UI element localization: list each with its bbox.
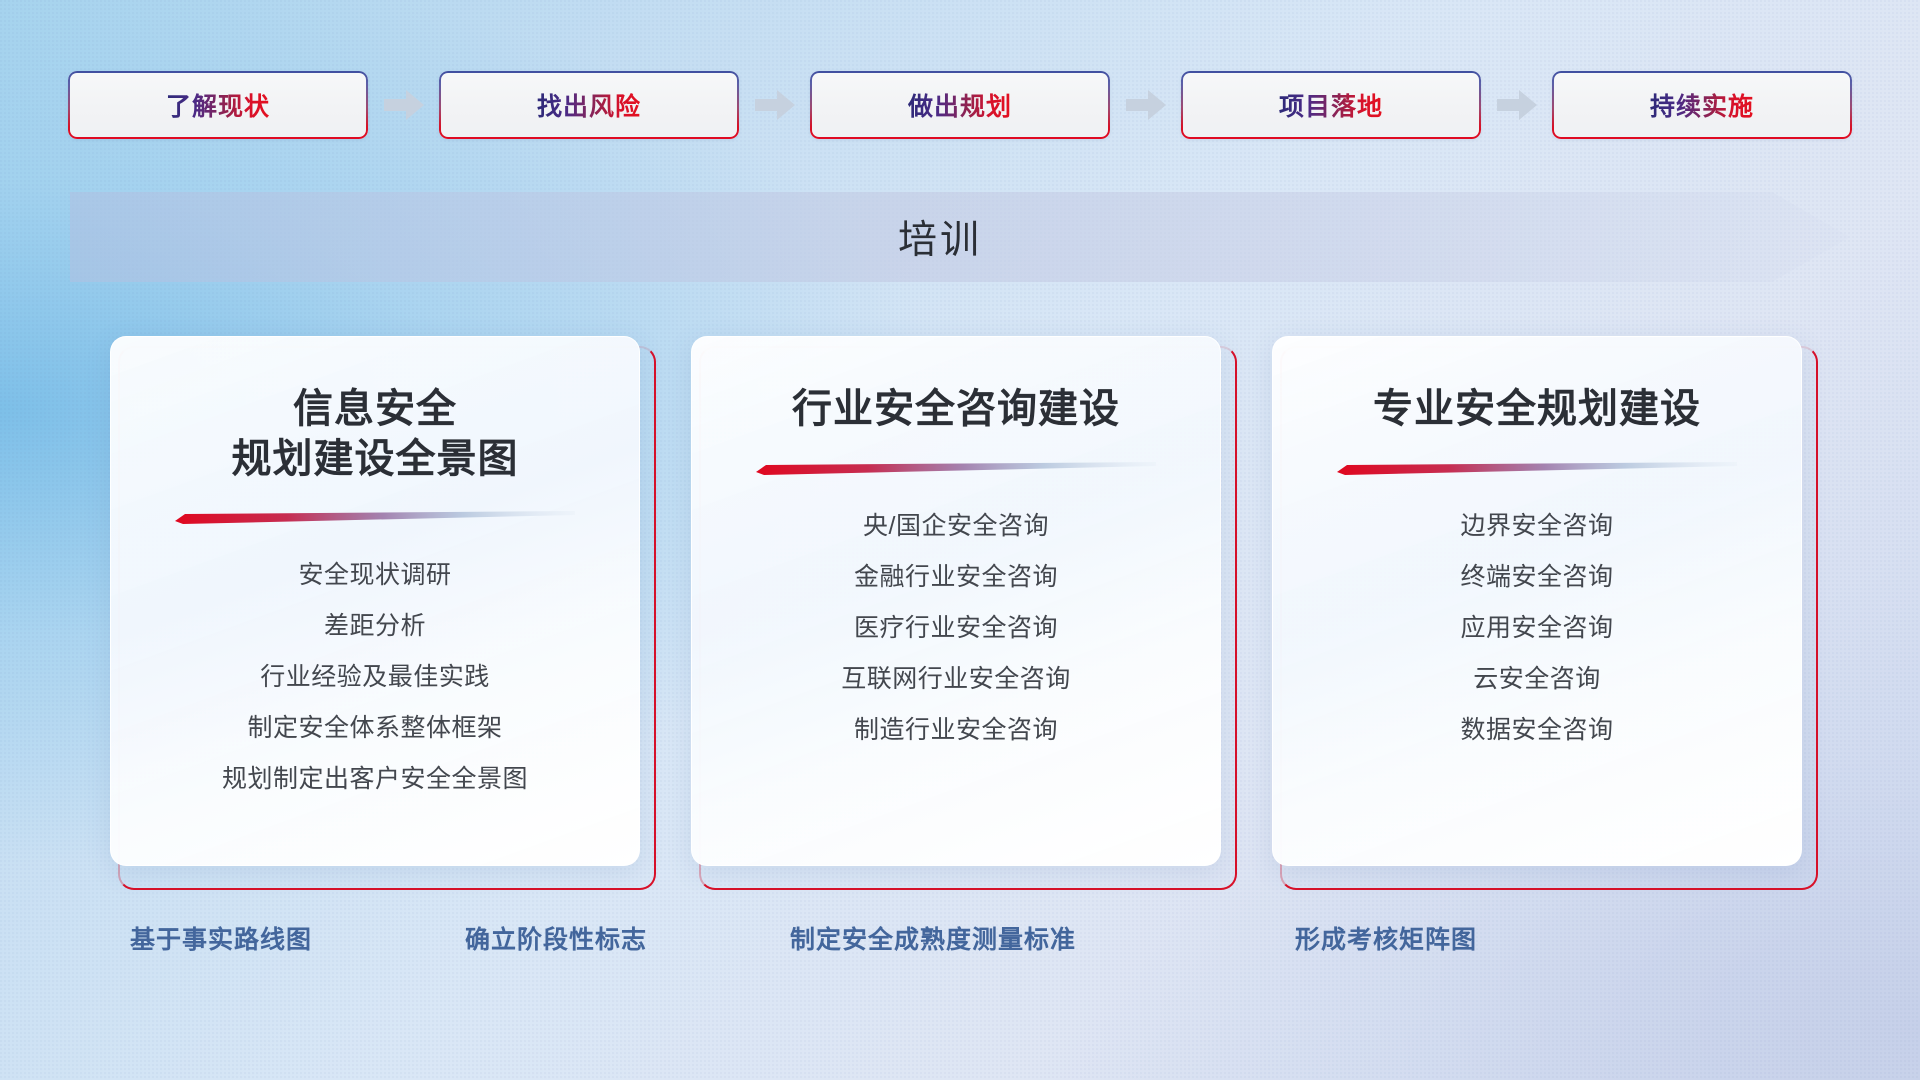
list-item: 制定安全体系整体框架 <box>247 703 502 753</box>
card-2-list: 央/国企安全咨询 金融行业安全咨询 医疗行业安全咨询 互联网行业安全咨询 制造行… <box>692 501 1220 755</box>
caption-1: 基于事实路线图 <box>130 920 312 956</box>
card-2[interactable]: 行业安全咨询建设 <box>691 336 1229 880</box>
list-item: 制造行业安全咨询 <box>854 705 1058 755</box>
arrow-right-icon <box>384 88 424 122</box>
banner-label: 培训 <box>70 192 1850 282</box>
card-1-title: 信息安全 规划建设全景图 <box>212 385 539 484</box>
list-item: 央/国企安全咨询 <box>863 501 1049 551</box>
list-item: 应用安全咨询 <box>1460 603 1613 653</box>
list-item: 差距分析 <box>324 601 426 651</box>
list-item: 规划制定出客户安全全景图 <box>222 754 528 804</box>
list-item: 医疗行业安全咨询 <box>854 603 1058 653</box>
card-3-body: 专业安全规划建设 <box>1272 336 1802 866</box>
card-1-list: 安全现状调研 差距分析 行业经验及最佳实践 制定安全体系整体框架 规划制定出客户… <box>111 550 639 804</box>
card-1[interactable]: 信息安全 规划建设全景图 <box>110 336 648 880</box>
arrow-right-icon <box>755 88 795 122</box>
slide-canvas: 了解现状 找出风险 做出规划 项目落地 <box>0 0 1920 1080</box>
step-label-2: 找出风险 <box>537 87 641 123</box>
step-box-4[interactable]: 项目落地 <box>1181 71 1481 139</box>
list-item: 金融行业安全咨询 <box>854 552 1058 602</box>
caption-4: 形成考核矩阵图 <box>1295 920 1477 956</box>
card-1-divider <box>175 510 575 524</box>
caption-3: 制定安全成熟度测量标准 <box>790 920 1076 956</box>
step-label-5: 持续实施 <box>1650 87 1754 123</box>
card-3-title: 专业安全规划建设 <box>1353 385 1721 435</box>
card-2-body: 行业安全咨询建设 <box>691 336 1221 866</box>
card-row: 信息安全 规划建设全景图 <box>110 336 1810 880</box>
card-3-list: 边界安全咨询 终端安全咨询 应用安全咨询 云安全咨询 数据安全咨询 <box>1273 501 1801 755</box>
caption-row: 基于事实路线图 确立阶段性标志 制定安全成熟度测量标准 形成考核矩阵图 <box>0 920 1920 966</box>
process-step-row: 了解现状 找出风险 做出规划 项目落地 <box>68 70 1852 140</box>
card-1-body: 信息安全 规划建设全景图 <box>110 336 640 866</box>
step-label-3: 做出规划 <box>908 87 1012 123</box>
step-label-1: 了解现状 <box>166 87 270 123</box>
card-3[interactable]: 专业安全规划建设 <box>1272 336 1810 880</box>
step-box-1[interactable]: 了解现状 <box>68 71 368 139</box>
step-box-3[interactable]: 做出规划 <box>810 71 1110 139</box>
list-item: 安全现状调研 <box>298 550 451 600</box>
arrow-right-icon <box>1126 88 1166 122</box>
list-item: 边界安全咨询 <box>1460 501 1613 551</box>
card-3-divider <box>1337 461 1737 475</box>
caption-2: 确立阶段性标志 <box>465 920 647 956</box>
list-item: 互联网行业安全咨询 <box>841 654 1071 704</box>
list-item: 数据安全咨询 <box>1460 705 1613 755</box>
list-item: 行业经验及最佳实践 <box>260 652 490 702</box>
step-label-4: 项目落地 <box>1279 87 1383 123</box>
arrow-right-icon <box>1497 88 1537 122</box>
card-2-title: 行业安全咨询建设 <box>772 385 1140 435</box>
card-2-divider <box>756 461 1156 475</box>
step-box-2[interactable]: 找出风险 <box>439 71 739 139</box>
training-banner: 培训 <box>70 192 1850 282</box>
step-box-5[interactable]: 持续实施 <box>1552 71 1852 139</box>
list-item: 终端安全咨询 <box>1460 552 1613 602</box>
list-item: 云安全咨询 <box>1473 654 1601 704</box>
